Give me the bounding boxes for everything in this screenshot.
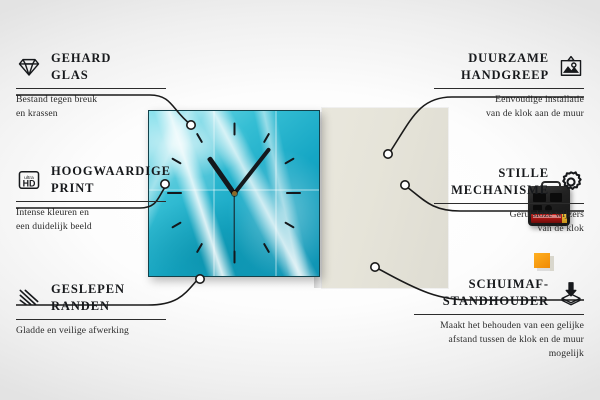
tick-12	[233, 123, 235, 136]
svg-text:HD: HD	[23, 178, 36, 188]
tick-8	[171, 221, 182, 228]
hands-pivot	[232, 191, 237, 196]
callout-geslepen-randen-title: GESLEPEN RANDEN	[51, 281, 125, 315]
callout-hoogwaardige-print-title: HOOGWAARDIGE PRINT	[51, 163, 171, 197]
callout-schuimafstandhouder-rule	[414, 314, 584, 315]
tick-3	[286, 192, 301, 194]
foam-spacer	[534, 253, 550, 268]
infographic-canvas: GEHARD GLAS Bestand tegen breuk en krass…	[0, 0, 600, 400]
callout-schuimafstandhouder[interactable]: SCHUIMAF- STANDHOUDER Maakt het behouden…	[414, 276, 584, 360]
glass-seam-vertical-1	[213, 111, 215, 276]
callout-gehard-glas-head: GEHARD GLAS	[16, 50, 166, 84]
ultra-hd-icon: ultra HD	[16, 167, 42, 193]
glass-seam-vertical-2	[275, 111, 277, 276]
bevelled-edges-icon	[16, 285, 42, 311]
gear-icon	[558, 169, 584, 195]
callout-gehard-glas-desc: Bestand tegen breuk en krassen	[16, 93, 166, 121]
callout-geslepen-randen-rule	[16, 319, 166, 320]
callout-stille-mechanisme-rule	[434, 203, 584, 204]
tick-2	[284, 157, 295, 164]
callout-duurzame-handgreep-title: DUURZAME HANDGREEP	[461, 50, 549, 84]
tick-5	[263, 243, 270, 254]
callout-stille-mechanisme-desc: Geruisloze wijzers van de klok	[434, 208, 584, 236]
minute-hand	[232, 147, 271, 195]
product-photo	[148, 90, 448, 290]
callout-duurzame-handgreep-rule	[434, 88, 584, 89]
callout-schuimafstandhouder-head: SCHUIMAF- STANDHOUDER	[414, 276, 584, 310]
second-hand	[233, 194, 234, 256]
callout-geslepen-randen[interactable]: GESLEPEN RANDEN Gladde en veilige afwerk…	[16, 281, 166, 338]
callout-gehard-glas-title: GEHARD GLAS	[51, 50, 111, 84]
picture-frame-icon	[558, 54, 584, 80]
callout-gehard-glas[interactable]: GEHARD GLAS Bestand tegen breuk en krass…	[16, 50, 166, 121]
callout-hoogwaardige-print-desc: Intense kleuren en een duidelijk beeld	[16, 206, 166, 234]
callout-geslepen-randen-desc: Gladde en veilige afwerking	[16, 324, 166, 338]
glass-clock-face	[148, 110, 320, 277]
callout-stille-mechanisme-title: STILLE MECHANISME	[451, 165, 549, 199]
callout-duurzame-handgreep[interactable]: DUURZAME HANDGREEP Eenvoudige installati…	[434, 50, 584, 121]
callout-gehard-glas-rule	[16, 88, 166, 89]
callout-hoogwaardige-print[interactable]: ultra HD HOOGWAARDIGE PRINT Intense kleu…	[16, 163, 166, 234]
callout-hoogwaardige-print-head: ultra HD HOOGWAARDIGE PRINT	[16, 163, 166, 197]
callout-hoogwaardige-print-rule	[16, 201, 166, 202]
tick-4	[284, 221, 295, 228]
wall-panel	[322, 108, 448, 288]
callout-duurzame-handgreep-head: DUURZAME HANDGREEP	[434, 50, 584, 84]
foam-spacer-side	[550, 256, 554, 271]
callout-geslepen-randen-head: GESLEPEN RANDEN	[16, 281, 166, 315]
callout-duurzame-handgreep-desc: Eenvoudige installatie van de klok aan d…	[434, 93, 584, 121]
callout-stille-mechanisme[interactable]: STILLE MECHANISME Geruisloze wijzers van…	[434, 165, 584, 236]
tick-1	[263, 133, 270, 144]
press-down-icon	[558, 280, 584, 306]
tick-7	[196, 243, 203, 254]
callout-stille-mechanisme-head: STILLE MECHANISME	[434, 165, 584, 199]
callout-schuimafstandhouder-desc: Maakt het behouden van een gelijke afsta…	[414, 319, 584, 361]
callout-schuimafstandhouder-title: SCHUIMAF- STANDHOUDER	[443, 276, 549, 310]
diamond-icon	[16, 54, 42, 80]
